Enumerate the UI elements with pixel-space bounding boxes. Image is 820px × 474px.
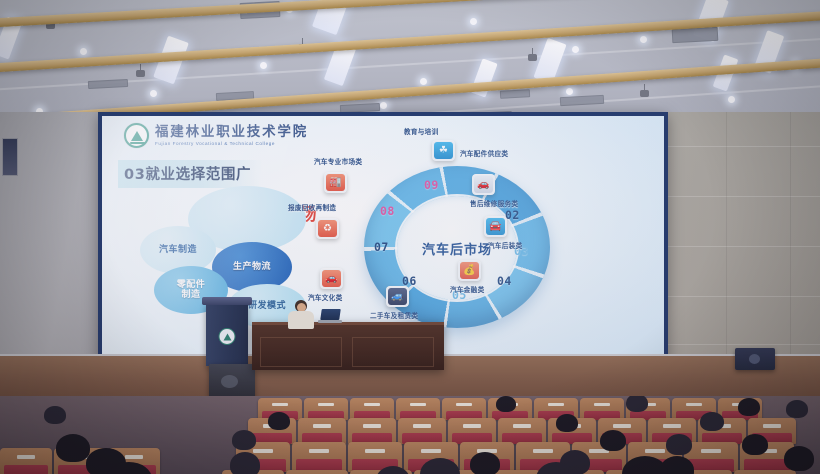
ceiling-speaker — [528, 54, 537, 61]
tile-recycling[interactable]: ♻ — [316, 218, 339, 239]
audience-person — [556, 414, 578, 432]
segment-number-04: 04 — [497, 274, 512, 288]
segment-number-07: 07 — [374, 240, 389, 254]
label-used-car-rental: 二手车及租赁类 — [370, 310, 418, 320]
ceiling-vent — [88, 79, 128, 89]
presenter-desk — [252, 322, 444, 370]
college-logo-icon — [124, 123, 149, 148]
tile-pro-market[interactable]: 🏭 — [324, 172, 347, 193]
audience-person — [44, 406, 66, 424]
lecture-hall-photo: 福建林业职业技术学院 Fujian Forestry Vocational & … — [0, 0, 820, 474]
slide-title: 03就业选择范围广 — [118, 160, 263, 188]
laptop-screen — [320, 309, 341, 320]
podium — [206, 302, 248, 366]
label-education: 教育与培训 — [404, 126, 438, 136]
recycling-icon: ♻ — [318, 220, 337, 237]
audience-person — [784, 446, 814, 471]
ceiling-vent — [500, 89, 530, 99]
segment-number-02: 02 — [505, 208, 520, 222]
audience-person — [600, 430, 626, 451]
blob-label: 研发模式 — [248, 301, 286, 311]
donut-center-label: 汽车后市场 — [422, 239, 492, 258]
institution-name-cn: 福建林业职业技术学院 — [155, 125, 308, 139]
podium-top — [202, 297, 252, 305]
label-repair-service: 售后维修服务类 — [470, 198, 518, 208]
ceiling-speaker — [136, 70, 145, 77]
label-parts-supply: 汽车配件供应类 — [460, 148, 508, 158]
presenter-person — [286, 300, 316, 328]
ceiling-speaker — [640, 90, 649, 97]
label-auto-finance: 汽车金融类 — [450, 284, 484, 294]
blob-label: 零配件 制造 — [177, 280, 206, 301]
presenter-body — [288, 311, 314, 329]
tile-auto-finance[interactable]: 💰 — [458, 260, 481, 281]
seat-row — [0, 418, 820, 444]
tile-car-culture[interactable]: 🚗 — [320, 268, 343, 289]
pro-market-icon: 🏭 — [326, 174, 345, 191]
tile-used-car-rental[interactable]: 🚙 — [386, 286, 409, 307]
tile-aftermarket-fitting[interactable]: 🚘 — [484, 216, 507, 237]
repair-service-icon: 🚗 — [474, 176, 493, 193]
stage-monitor-speaker — [209, 364, 255, 398]
segment-number-09: 09 — [424, 178, 439, 192]
ceiling-vent — [560, 95, 604, 106]
tile-education[interactable]: ☘ — [432, 140, 455, 161]
used-car-rental-icon: 🚙 — [388, 288, 407, 305]
institution-name-en: Fujian Forestry Vocational & Technical C… — [155, 141, 308, 146]
audience-person — [232, 430, 256, 450]
audience-person — [268, 412, 290, 430]
education-icon: ☘ — [434, 142, 453, 159]
audience-person — [666, 434, 692, 455]
audience-seating — [0, 396, 820, 474]
audience-person — [700, 412, 724, 431]
tile-repair-service[interactable]: 🚗 — [472, 174, 495, 195]
blob-label: 生产物流 — [233, 262, 271, 272]
audience-person — [626, 396, 648, 412]
audience-person — [56, 434, 90, 462]
laptop-base — [318, 320, 342, 323]
audience-person — [230, 452, 260, 474]
floor-speaker — [735, 348, 775, 370]
seat-row — [0, 398, 820, 420]
label-aftermarket-fitting: 汽车后装类 — [488, 240, 522, 250]
audience-person — [738, 398, 760, 416]
audience-person — [786, 400, 808, 418]
label-pro-market: 汽车专业市场类 — [314, 156, 362, 166]
blob-label: 汽车制造 — [159, 245, 197, 255]
audience-person — [496, 396, 516, 412]
segment-number-08: 08 — [380, 204, 395, 218]
college-logo-block: 福建林业职业技术学院 Fujian Forestry Vocational & … — [124, 123, 308, 148]
label-recycling: 报废回收再制造 — [288, 202, 336, 212]
aftermarket-fitting-icon: 🚘 — [486, 218, 505, 235]
laptop — [318, 309, 342, 324]
auto-finance-icon: 💰 — [460, 262, 479, 279]
audience-person — [470, 452, 500, 474]
wall-sign — [2, 138, 18, 176]
audience-person — [742, 434, 768, 455]
podium-emblem-icon — [219, 328, 236, 345]
car-culture-icon: 🚗 — [322, 270, 341, 287]
